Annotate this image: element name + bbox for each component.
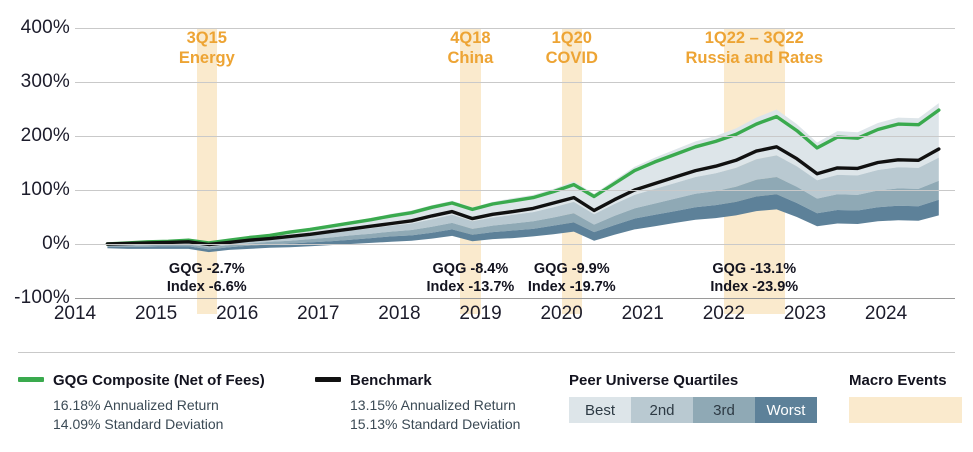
chart-area: 400%300%200%100%0%-100% 3Q15Energy4Q18Ch… (0, 0, 973, 345)
legend-peer-universe: Peer Universe Quartiles Best2nd3rdWorst (569, 372, 817, 423)
y-tick-label: 400% (21, 17, 70, 39)
x-tick-label: 2021 (622, 303, 664, 325)
plot-area (75, 28, 955, 298)
legend-gqg-label: GQG Composite (Net of Fees) (53, 372, 265, 389)
macro-event-note-1q22_3q22: GQG -13.1%Index -23.9% (664, 260, 844, 296)
macro-event-gqg-note-1q22_3q22: GQG -13.1% (664, 260, 844, 278)
legend-benchmark-stdev: 15.13% Standard Deviation (350, 415, 520, 434)
gridline (75, 244, 955, 245)
macro-event-swatch-icon (849, 397, 962, 423)
quartile-swatch-worst: Worst (755, 397, 817, 423)
y-tick-label: 100% (21, 179, 70, 201)
legend-peer-title: Peer Universe Quartiles (569, 372, 817, 389)
x-tick-label: 2019 (459, 303, 501, 325)
legend-benchmark-title-row: Benchmark (315, 372, 520, 389)
macro-event-label-3q15: 3Q15Energy (67, 28, 347, 68)
quartile-swatch-best: Best (569, 397, 631, 423)
macro-event-index-note-1q22_3q22: Index -23.9% (664, 278, 844, 296)
gridline (75, 82, 955, 83)
x-tick-label: 2022 (703, 303, 745, 325)
macro-event-index-note-1q20: Index -19.7% (482, 278, 662, 296)
macro-event-quarter-3q15: 3Q15 (67, 28, 347, 48)
x-tick-label: 2018 (378, 303, 420, 325)
legend-gqg-stdev: 14.09% Standard Deviation (53, 415, 265, 434)
quartile-swatch-2nd: 2nd (631, 397, 693, 423)
legend-divider (18, 352, 955, 353)
macro-event-name-1q22_3q22: Russia and Rates (614, 48, 894, 68)
legend-benchmark: Benchmark 13.15% Annualized Return 15.13… (315, 372, 520, 434)
legend-gqg-return: 16.18% Annualized Return (53, 396, 265, 415)
benchmark-line-swatch-icon (315, 377, 341, 382)
legend-benchmark-label: Benchmark (350, 372, 432, 389)
y-tick-label: 200% (21, 125, 70, 147)
gqg-line-swatch-icon (18, 377, 44, 382)
x-tick-label: 2020 (540, 303, 582, 325)
quartile-swatch-3rd: 3rd (693, 397, 755, 423)
y-tick-label: 300% (21, 71, 70, 93)
performance-chart-page: 400%300%200%100%0%-100% 3Q15Energy4Q18Ch… (0, 0, 973, 452)
x-tick-label: 2024 (865, 303, 907, 325)
series-svg (75, 28, 955, 298)
legend: GQG Composite (Net of Fees) 16.18% Annua… (0, 352, 973, 452)
y-axis-ticks: 400%300%200%100%0%-100% (0, 28, 70, 298)
x-tick-label: 2015 (135, 303, 177, 325)
macro-event-index-note-3q15: Index -6.6% (117, 278, 297, 296)
y-tick-label: 0% (42, 233, 70, 255)
x-tick-label: 2014 (54, 303, 96, 325)
x-tick-label: 2023 (784, 303, 826, 325)
gridline (75, 136, 955, 137)
macro-event-gqg-note-3q15: GQG -2.7% (117, 260, 297, 278)
x-tick-label: 2017 (297, 303, 339, 325)
legend-gqg: GQG Composite (Net of Fees) 16.18% Annua… (18, 372, 265, 434)
legend-gqg-title-row: GQG Composite (Net of Fees) (18, 372, 265, 389)
macro-event-quarter-1q22_3q22: 1Q22 – 3Q22 (614, 28, 894, 48)
macro-event-gqg-note-1q20: GQG -9.9% (482, 260, 662, 278)
macro-event-name-3q15: Energy (67, 48, 347, 68)
legend-benchmark-return: 13.15% Annualized Return (350, 396, 520, 415)
gridline (75, 190, 955, 191)
macro-event-note-3q15: GQG -2.7%Index -6.6% (117, 260, 297, 296)
legend-macro-events: Macro Events (849, 372, 962, 423)
x-tick-label: 2016 (216, 303, 258, 325)
legend-macro-title: Macro Events (849, 372, 962, 389)
macro-event-note-1q20: GQG -9.9%Index -19.7% (482, 260, 662, 296)
quartile-swatch-row: Best2nd3rdWorst (569, 397, 817, 423)
macro-event-label-1q22_3q22: 1Q22 – 3Q22Russia and Rates (614, 28, 894, 68)
gridline (75, 298, 955, 299)
